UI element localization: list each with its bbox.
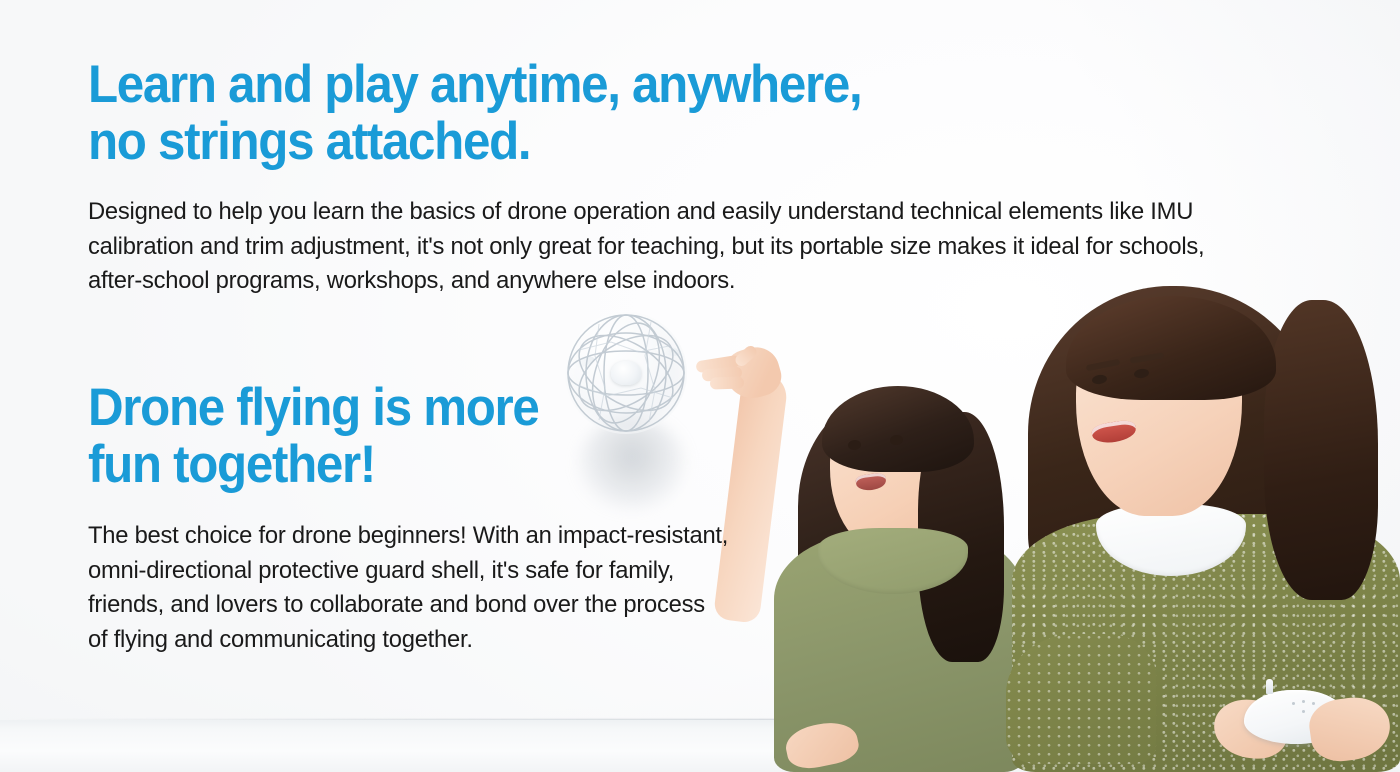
woman-sweater-arm (1006, 634, 1156, 764)
controller-button (1292, 702, 1295, 705)
adult-holding-controller (1000, 252, 1400, 772)
woman-hair-side (1264, 300, 1378, 600)
copy-block-secondary: Drone flying is more fun together! The b… (88, 379, 788, 657)
controller-button (1302, 700, 1305, 703)
controller-button (1302, 710, 1305, 713)
product-feature-banner: Learn and play anytime, anywhere, no str… (0, 0, 1400, 772)
girl-fringe (822, 386, 974, 472)
headline-secondary: Drone flying is more fun together! (88, 379, 739, 493)
body-copy-primary: Designed to help you learn the basics of… (88, 195, 1213, 299)
copy-block-primary: Learn and play anytime, anywhere, no str… (88, 56, 1258, 299)
body-copy-secondary: The best choice for drone beginners! Wit… (88, 519, 728, 657)
controller-button (1312, 702, 1315, 705)
controller-joystick (1266, 679, 1273, 694)
headline-primary: Learn and play anytime, anywhere, no str… (88, 56, 1176, 170)
